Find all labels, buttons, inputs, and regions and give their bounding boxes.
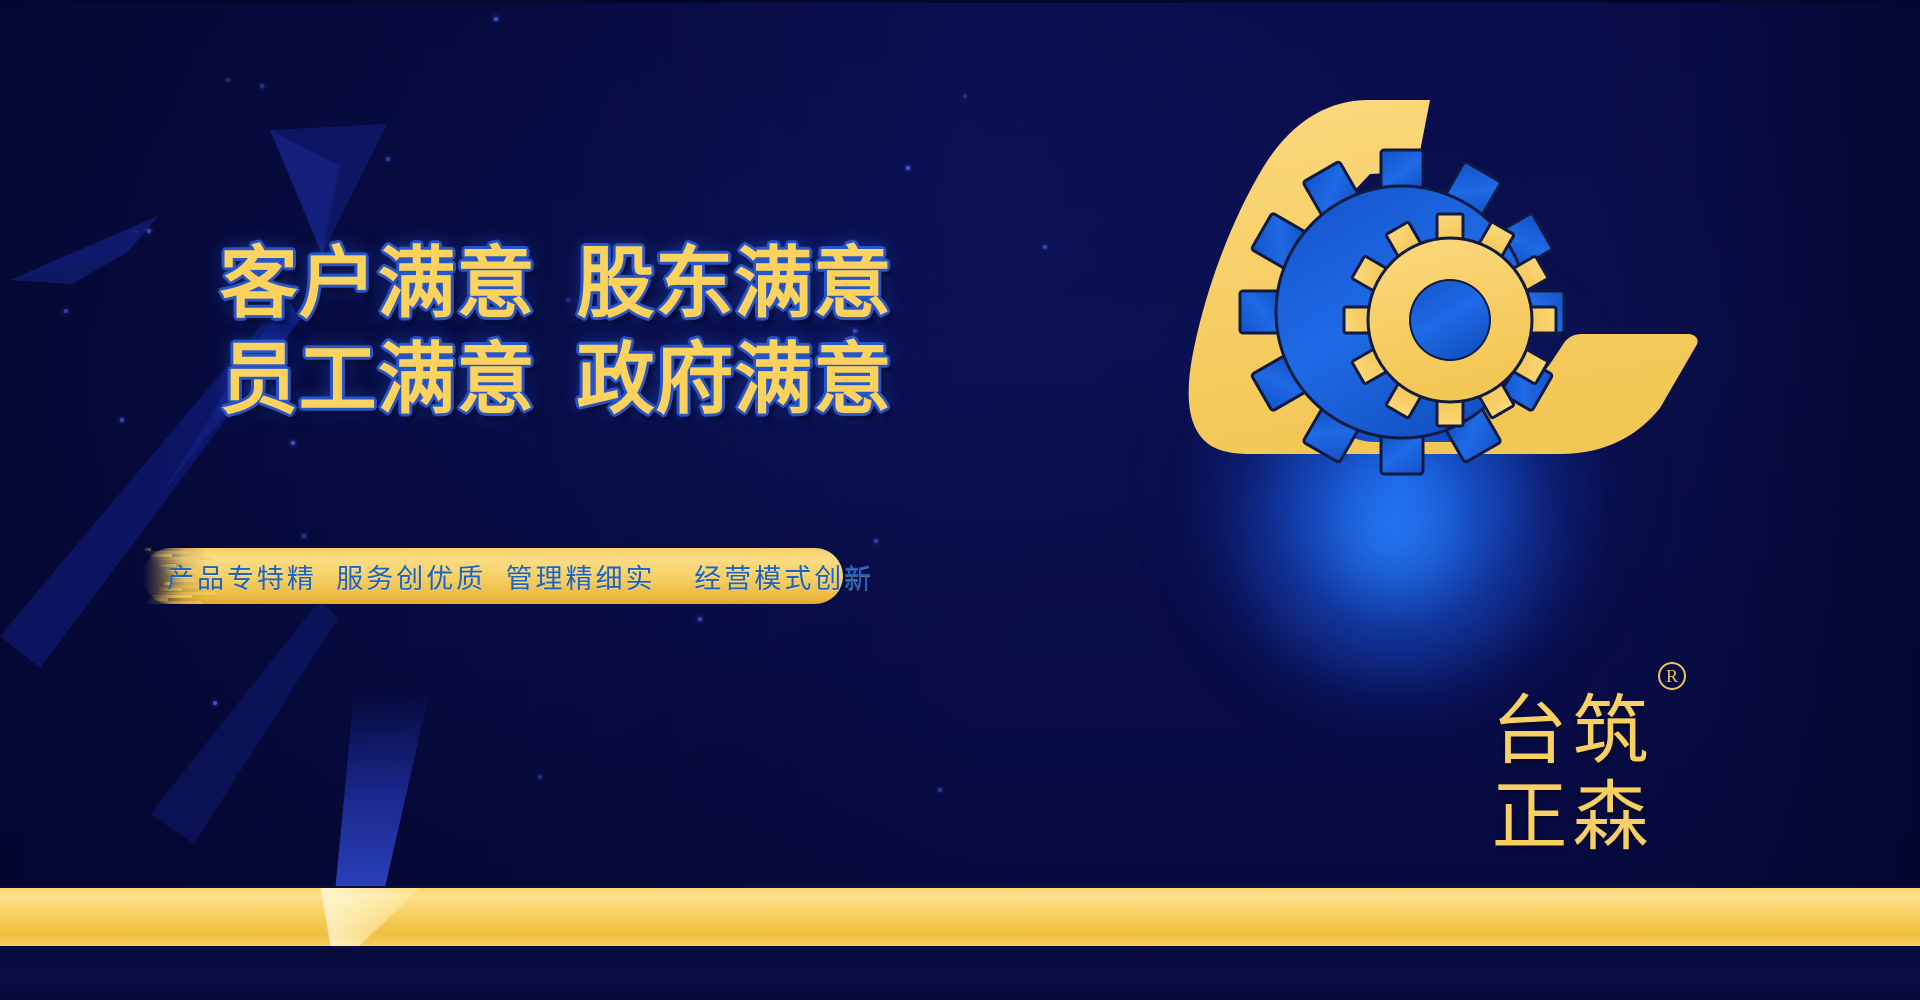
gear-swoosh-logo: [1130, 90, 1700, 480]
logotype-char-3: 正: [1490, 776, 1569, 860]
star-dot: [963, 94, 967, 98]
star-dot: [1043, 245, 1047, 249]
slogan-ribbon: 产品专特精 服务创优质 管理精细实 经营模式创新: [143, 548, 843, 604]
star-dot: [302, 534, 306, 538]
star-dot: [64, 309, 68, 313]
top-hairline: [0, 0, 1920, 3]
bottom-dark-strip: [0, 948, 1920, 1000]
registered-trademark-icon: R: [1658, 662, 1686, 690]
polygon-shard-left-small: [10, 212, 160, 287]
star-dot: [538, 775, 542, 779]
banner-canvas: 客户满意 股东满意 员工满意 政府满意 产品专特精 服务创优质 管理精细实 经营…: [0, 0, 1920, 1000]
star-dot: [147, 229, 151, 233]
ribbon-slogan-text: 产品专特精 服务创优质 管理精细实 经营模式创新: [143, 548, 843, 604]
star-dot: [494, 17, 498, 21]
logotype-char-2: 筑: [1571, 690, 1650, 774]
star-dot: [874, 539, 878, 543]
star-dot: [226, 78, 230, 82]
gold-bar-glint: [260, 888, 420, 946]
star-dot: [135, 231, 137, 233]
star-dot: [698, 617, 702, 621]
bottom-gold-bar: [0, 886, 1920, 948]
star-dot: [260, 84, 264, 88]
company-logotype: 台 筑 正 森 R: [1490, 690, 1670, 870]
headline-block: 客户满意 股东满意 员工满意 政府满意: [196, 236, 916, 428]
logotype-char-4: 森: [1571, 776, 1650, 860]
logotype-char-1: 台: [1490, 690, 1569, 774]
star-dot: [213, 701, 217, 705]
star-dot: [386, 157, 390, 161]
star-dot: [906, 166, 910, 170]
logotype-grid: 台 筑 正 森: [1490, 690, 1650, 860]
headline-line-2: 员工满意 政府满意: [196, 332, 916, 428]
star-dot: [938, 788, 942, 792]
headline-line-1: 客户满意 股东满意: [196, 236, 916, 332]
star-dot: [291, 441, 295, 445]
polygon-shard-mid-lower: [110, 600, 340, 850]
star-dot: [120, 418, 124, 422]
